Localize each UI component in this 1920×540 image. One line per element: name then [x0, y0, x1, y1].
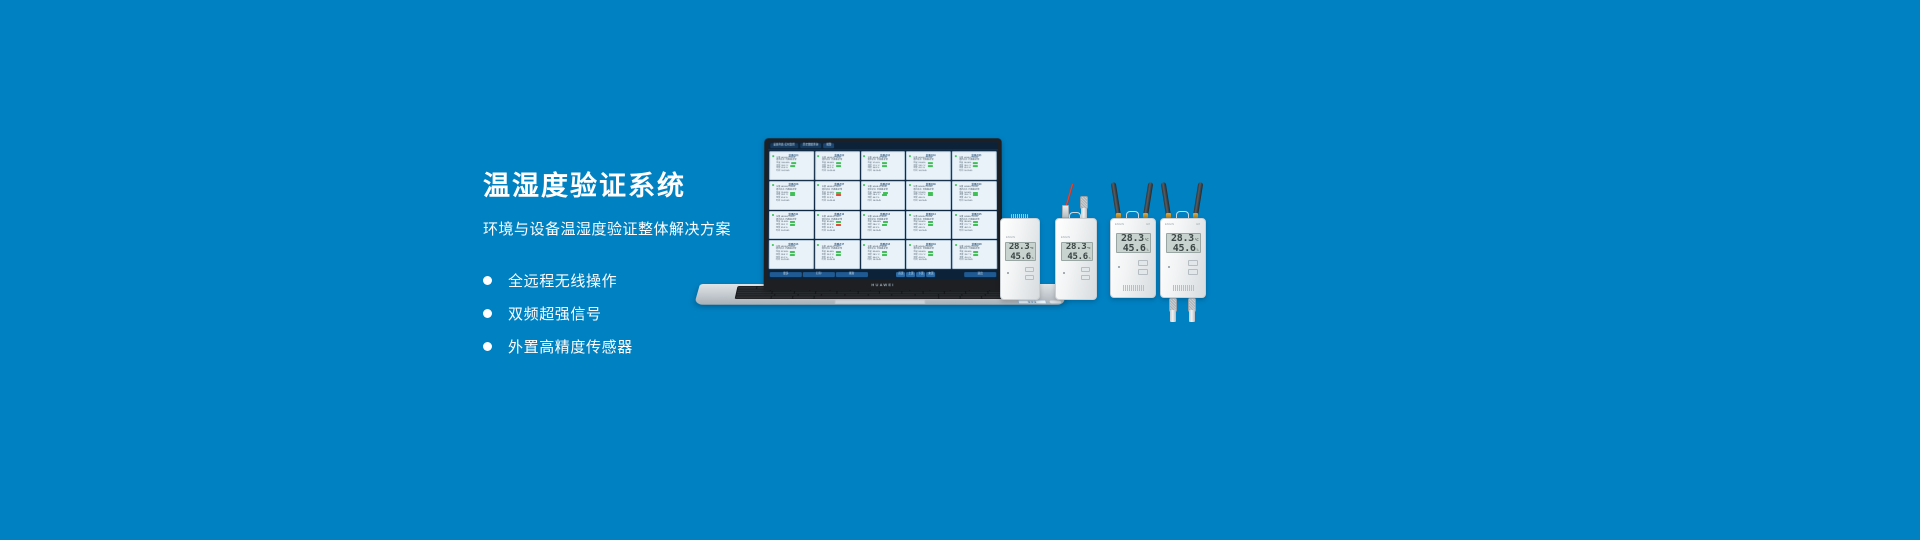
- temperature-value: 28.3: [1066, 243, 1086, 252]
- temperature-pill-icon: [882, 254, 887, 256]
- card-status-led-icon: [863, 184, 865, 186]
- card-field-value: 10:23:45: [781, 259, 789, 262]
- temperature-pill-icon: [928, 224, 933, 226]
- vent-grill-icon: [1123, 285, 1145, 291]
- card-status-led-icon: [955, 155, 957, 157]
- temperature-pill-icon: [790, 194, 795, 196]
- device-button-up[interactable]: [1025, 267, 1034, 272]
- card-status-led-icon: [955, 184, 957, 186]
- card-field-row: 时间10:23:45: [913, 170, 948, 173]
- humidity-unit: %: [1032, 257, 1034, 260]
- status-led-icon: [1168, 266, 1170, 268]
- card-field-key: 时间: [822, 170, 826, 173]
- battery-pill-icon: [790, 251, 795, 253]
- monitor-card[interactable]: 监测点14设备HD08-ZT-0114通讯状态已连接/正常电量90.00%温度2…: [906, 211, 951, 240]
- monitor-card[interactable]: 监测点02设备HD08-ZT-0102通讯状态已连接/正常电量98.00%温度2…: [815, 151, 860, 180]
- device-button-down[interactable]: [1138, 269, 1148, 275]
- card-field-key: 时间: [868, 230, 872, 233]
- card-field-key: 时间: [868, 259, 872, 262]
- card-field-row: 时间10:23:45: [776, 170, 811, 173]
- temperature-unit: ℃: [1030, 247, 1033, 250]
- bullet-dot-icon: [483, 276, 492, 285]
- battery-pill-icon: [792, 162, 797, 164]
- monitor-card[interactable]: 监测点16设备HD08-ZT-0116通讯状态已连接/正常电量87.00%温度2…: [769, 240, 814, 269]
- temperature-pill-icon: [928, 254, 933, 256]
- card-status-led-icon: [955, 214, 957, 216]
- sensor-probe-left-stem: [1170, 310, 1176, 322]
- sticker-label: 温湿度: [1027, 300, 1037, 303]
- card-field-key: 时间: [959, 200, 963, 203]
- card-field-key: 时间: [868, 170, 872, 173]
- device-button-up[interactable]: [1081, 267, 1090, 272]
- humidity-value: 45.6: [1123, 244, 1146, 253]
- card-status-led-icon: [863, 244, 865, 246]
- card-field-key: 时间: [959, 259, 963, 262]
- sensor-probe-right-stem: [1189, 310, 1195, 322]
- battery-pill-icon: [883, 221, 888, 223]
- lcd-humidity-row: 45.6 %: [1006, 253, 1035, 261]
- pager-first-button[interactable]: 首页: [896, 272, 905, 278]
- device-brand-label: ENGIN: [1115, 223, 1124, 226]
- card-field-row: 时间10:23:45: [822, 230, 857, 233]
- card-status-led-icon: [817, 244, 819, 246]
- card-field-value: 10:23:45: [919, 230, 927, 233]
- card-field-row: 时间10:23:45: [776, 200, 811, 203]
- device-button-up[interactable]: [1138, 260, 1148, 266]
- tab-realtime[interactable]: 设备列表-实时监控: [770, 143, 798, 148]
- monitor-card[interactable]: 监测点12设备HD08-ZT-0112通讯状态已连接/正常电量89.00%温度3…: [815, 211, 860, 240]
- feature-label: 双频超强信号: [508, 303, 602, 324]
- status-led-icon: [1118, 266, 1120, 268]
- bullet-dot-icon: [483, 342, 492, 351]
- card-status-led-icon: [817, 184, 819, 186]
- card-field-key: 时间: [776, 259, 780, 262]
- laptop-lid: 设备列表-实时监控 历史数据查询 报警 监测点01设备HD08-ZT-0101通…: [764, 138, 1003, 290]
- tab-history[interactable]: 历史数据查询: [800, 143, 822, 148]
- card-status-led-icon: [909, 184, 911, 186]
- feature-label: 外置高精度传感器: [508, 336, 633, 357]
- card-field-row: 时间10:23:45: [822, 170, 857, 173]
- temperature-unit: ℃: [1195, 239, 1199, 242]
- monitor-card[interactable]: 监测点06设备HD08-ZT-0106通讯状态已连接/正常电量95.00%温度2…: [769, 181, 814, 210]
- antenna-left-icon: [1161, 182, 1171, 216]
- temperature-pill-icon: [790, 254, 795, 256]
- card-field-key: 时间: [959, 170, 963, 173]
- card-status-led-icon: [817, 155, 819, 157]
- battery-pill-icon: [973, 192, 978, 194]
- feature-label: 全远程无线操作: [508, 270, 617, 291]
- card-status-led-icon: [909, 214, 911, 216]
- card-field-value: 10:23:45: [964, 230, 972, 233]
- card-field-key: 时间: [776, 170, 780, 173]
- laptop-brand-label: HUAWEI: [871, 282, 894, 287]
- battery-pill-icon: [836, 251, 841, 253]
- humidity-value: 45.6: [1067, 253, 1087, 261]
- card-field-key: 时间: [822, 230, 826, 233]
- card-field-row: 时间10:23:45: [868, 200, 903, 203]
- toolbar-exit-button[interactable]: 退出: [964, 272, 996, 278]
- probe-connector: [1062, 205, 1069, 218]
- card-field-row: 时间10:23:45: [776, 230, 811, 233]
- card-field-value: 10:23:45: [964, 170, 972, 173]
- card-status-led-icon: [772, 184, 774, 186]
- temperature-pill-icon: [790, 165, 795, 167]
- card-field-value: 10:23:45: [827, 230, 835, 233]
- monitor-card[interactable]: 监测点07设备HD08-ZT-0107通讯状态已连接/正常电量93.00%温度3…: [815, 181, 860, 210]
- monitor-card[interactable]: 监测点01设备HD08-ZT-0101通讯状态已连接/正常电量100.00%温度…: [769, 151, 814, 180]
- device-model-label: H8: [1146, 223, 1150, 226]
- monitor-card[interactable]: 监测点03设备HD08-ZT-0103通讯状态已连接/正常电量97.00%温度2…: [861, 151, 906, 180]
- probe-cable: [1065, 184, 1074, 208]
- card-field-row: 时间10:23:45: [913, 230, 948, 233]
- card-field-value: 10:23:45: [827, 170, 835, 173]
- humidity-unit: %: [1146, 249, 1148, 252]
- card-field-key: 时间: [913, 230, 917, 233]
- card-status-led-icon: [863, 214, 865, 216]
- card-field-value: 10:23:45: [781, 170, 789, 173]
- card-field-key: 时间: [776, 230, 780, 233]
- monitor-card[interactable]: 监测点11设备HD08-ZT-0111通讯状态已连接/正常电量91.00%温度2…: [769, 211, 814, 240]
- battery-pill-icon: [974, 251, 979, 253]
- device-logger-b: ENGIN 28.3 ℃ 45.6 %: [1055, 200, 1097, 300]
- card-field-key: 时间: [913, 200, 917, 203]
- card-field-value: 10:23:45: [964, 259, 972, 262]
- card-status-led-icon: [817, 214, 819, 216]
- humidity-unit: %: [1089, 257, 1091, 260]
- battery-pill-icon: [790, 221, 795, 223]
- humidity-value: 45.6: [1010, 253, 1030, 261]
- card-status-led-icon: [772, 155, 774, 157]
- battery-pill-icon: [790, 192, 795, 194]
- status-led-icon: [1007, 272, 1009, 274]
- battery-pill-icon: [836, 221, 841, 223]
- card-field-key: 时间: [822, 200, 826, 203]
- card-field-key: 时间: [913, 170, 917, 173]
- battery-pill-icon: [883, 192, 888, 194]
- card-field-key: 时间: [959, 230, 963, 233]
- card-field-row: 时间10:23:45: [913, 200, 948, 203]
- card-field-key: 时间: [868, 200, 872, 203]
- card-status-led-icon: [863, 155, 865, 157]
- card-field-row: 时间10:23:45: [822, 259, 857, 262]
- device-brand-label: ENGIN: [1006, 236, 1015, 239]
- battery-pill-icon: [882, 251, 887, 253]
- card-field-value: 10:23:45: [781, 200, 789, 203]
- device-lcd-display: 28.3 ℃ 45.6 %: [1166, 233, 1201, 253]
- card-status-led-icon: [771, 244, 773, 246]
- product-sticker: 温湿度: [1017, 300, 1047, 304]
- temperature-pill-icon: [973, 194, 978, 196]
- laptop-chin: HUAWEI: [764, 279, 1003, 290]
- device-button-down[interactable]: [1025, 275, 1034, 280]
- device-button-up[interactable]: [1188, 260, 1198, 266]
- bullet-dot-icon: [483, 309, 492, 318]
- card-field-value: 10:23:45: [964, 200, 972, 203]
- card-field-value: 10:23:45: [827, 259, 835, 262]
- lcd-humidity-row: 45.6 %: [1117, 244, 1150, 253]
- device-transmitter-c: ENGIN H8 28.3 ℃ 45.6 %: [1110, 182, 1156, 298]
- card-field-value: 10:23:45: [873, 259, 881, 262]
- monitor-card[interactable]: 监测点15设备HD08-ZT-0115通讯状态已连接/正常电量88.00%温度2…: [952, 211, 997, 240]
- lcd-humidity-row: 45.6 %: [1062, 253, 1092, 261]
- device-button-down[interactable]: [1188, 269, 1198, 275]
- device-lcd-display: 28.3 ℃ 45.6 %: [1061, 242, 1093, 261]
- temperature-pill-icon: [836, 254, 841, 256]
- device-transmitter-d: ENGIN H8 28.3 ℃ 45.6 %: [1160, 182, 1206, 322]
- device-housing: ENGIN H8 28.3 ℃ 45.6 %: [1110, 218, 1156, 298]
- battery-pill-icon: [836, 192, 841, 194]
- secondary-sticker: [1049, 300, 1061, 303]
- temperature-pill-icon: [973, 224, 978, 226]
- temperature-pill-icon: [927, 194, 932, 196]
- temperature-value: 28.3: [1009, 243, 1029, 252]
- battery-pill-icon: [973, 162, 978, 164]
- humidity-unit: %: [1196, 249, 1198, 252]
- device-housing: ENGIN 28.3 ℃ 45.6 %: [1000, 218, 1040, 300]
- temperature-unit: ℃: [1145, 239, 1149, 242]
- device-housing: ENGIN 28.3 ℃ 45.6 %: [1055, 218, 1097, 300]
- device-lcd-display: 28.3 ℃ 45.6 %: [1116, 233, 1151, 253]
- card-field-value: 10:23:45: [873, 170, 881, 173]
- device-logger-a: ENGIN 28.3 ℃ 45.6 %: [1000, 218, 1040, 300]
- card-status-led-icon: [909, 244, 911, 246]
- temperature-pill-icon: [836, 194, 841, 196]
- toolbar-more-button[interactable]: 更多: [770, 272, 802, 278]
- tab-alarm[interactable]: 报警: [823, 143, 834, 148]
- temperature-pill-icon: [882, 165, 887, 167]
- monitor-card[interactable]: 监测点17设备HD08-ZT-0117通讯状态已连接/正常电量86.00%温度2…: [815, 240, 860, 269]
- temperature-pill-icon: [836, 165, 841, 167]
- monitor-card[interactable]: 监测点18设备HD08-ZT-0118通讯状态已连接/正常电量85.00%温度2…: [861, 240, 906, 269]
- card-field-row: 时间10:23:45: [822, 200, 857, 203]
- device-brand-label: ENGIN: [1061, 236, 1070, 239]
- antenna-right-icon: [1193, 182, 1203, 216]
- pager-last-button[interactable]: 末页: [926, 272, 935, 278]
- pager-next-button[interactable]: 下页: [916, 272, 925, 278]
- monitor-card[interactable]: 监测点20设备HD08-ZT-0120通讯状态已连接/正常电量83.00%温度2…: [952, 240, 997, 269]
- card-field-row: 时间10:23:45: [868, 170, 903, 173]
- card-field-row: 时间10:23:45: [868, 230, 903, 233]
- device-lcd-display: 28.3 ℃ 45.6 %: [1005, 242, 1036, 261]
- temperature-pill-icon: [836, 224, 841, 226]
- battery-pill-icon: [928, 221, 933, 223]
- monitor-card[interactable]: 监测点04设备HD08-ZT-0104通讯状态已连接/正常电量99.00%温度2…: [906, 151, 951, 180]
- card-field-value: 10:23:45: [918, 170, 926, 173]
- monitor-card[interactable]: 监测点09设备HD08-ZT-0109通讯状态已连接/正常电量92.00%温度2…: [906, 181, 951, 210]
- device-button-down[interactable]: [1081, 275, 1090, 280]
- temperature-pill-icon: [790, 224, 795, 226]
- toolbar-print-button[interactable]: 打印: [803, 272, 835, 278]
- card-field-key: 时间: [776, 200, 780, 203]
- battery-pill-icon: [882, 162, 887, 164]
- toolbar-refresh-button[interactable]: 刷新: [836, 272, 868, 278]
- card-field-row: 时间10:23:45: [959, 170, 994, 173]
- lcd-humidity-row: 45.6 %: [1167, 244, 1200, 253]
- banner-stage: 温湿度验证系统 环境与设备温湿度验证整体解决方案 全远程无线操作 双频超强信号 …: [0, 0, 1920, 540]
- device-model-label: H8: [1196, 223, 1200, 226]
- monitor-card[interactable]: 监测点05设备HD08-ZT-0105通讯状态已连接/正常电量96.00%温度2…: [952, 151, 997, 180]
- software-screen: 设备列表-实时监控 历史数据查询 报警 监测点01设备HD08-ZT-0101通…: [768, 142, 999, 279]
- battery-pill-icon: [973, 221, 978, 223]
- card-field-row: 时间10:23:45: [959, 230, 994, 233]
- keyboard-row: [736, 297, 1024, 299]
- battery-pill-icon: [928, 192, 933, 194]
- screen-tabbar: 设备列表-实时监控 历史数据查询 报警: [768, 142, 997, 150]
- antenna-left-icon: [1111, 182, 1121, 216]
- temperature-unit: ℃: [1087, 247, 1090, 250]
- card-field-row: 时间10:23:45: [959, 200, 994, 203]
- key: [939, 297, 960, 299]
- card-field-value: 10:23:45: [873, 200, 881, 203]
- card-field-key: 时间: [913, 259, 917, 262]
- battery-pill-icon: [928, 162, 933, 164]
- temperature-pill-icon: [882, 224, 887, 226]
- card-field-value: 10:23:45: [827, 200, 835, 203]
- spacebar-key: [815, 297, 938, 299]
- card-status-led-icon: [909, 155, 911, 157]
- status-led-icon: [1063, 272, 1065, 274]
- screen-toolbar: 更多 打印 刷新 首页 上页 下页 末页 退出: [768, 270, 999, 279]
- monitor-card[interactable]: 监测点08设备HD08-ZT-0108通讯状态已连接/正常电量100.00%温度…: [861, 181, 906, 210]
- key: [772, 297, 793, 299]
- battery-pill-icon: [836, 162, 841, 164]
- humidity-value: 45.6: [1173, 244, 1196, 253]
- monitor-card-grid: 监测点01设备HD08-ZT-0101通讯状态已连接/正常电量100.00%温度…: [768, 150, 999, 270]
- device-housing: ENGIN H8 28.3 ℃ 45.6 %: [1160, 218, 1206, 298]
- monitor-card[interactable]: 监测点13设备HD08-ZT-0113通讯状态已连接/正常电量100.00%温度…: [861, 211, 906, 240]
- card-status-led-icon: [955, 244, 957, 246]
- monitor-card[interactable]: 监测点10设备HD08-ZT-0110通讯状态已连接/正常电量94.00%温度2…: [952, 181, 997, 210]
- list-item: 外置高精度传感器: [483, 331, 813, 363]
- card-field-key: 时间: [822, 259, 826, 262]
- card-field-value: 10:23:45: [919, 200, 927, 203]
- device-brand-label: ENGIN: [1165, 223, 1174, 226]
- temperature-pill-icon: [973, 254, 978, 256]
- temperature-pill-icon: [882, 194, 887, 196]
- monitor-card[interactable]: 监测点19设备HD08-ZT-0119通讯状态已连接/正常电量84.00%温度2…: [906, 240, 951, 269]
- key: [736, 297, 771, 299]
- card-field-row: 时间10:23:45: [776, 259, 811, 262]
- key: [960, 297, 981, 299]
- antenna-right-icon: [1143, 182, 1153, 216]
- temperature-pill-icon: [973, 165, 978, 167]
- vent-grill-icon: [1173, 285, 1195, 291]
- card-field-row: 时间10:23:45: [868, 259, 903, 262]
- card-field-row: 时间10:23:45: [913, 259, 948, 262]
- pager-prev-button[interactable]: 上页: [906, 272, 915, 278]
- temperature-pill-icon: [927, 165, 932, 167]
- card-field-value: 10:23:45: [873, 230, 881, 233]
- battery-pill-icon: [928, 251, 933, 253]
- key: [793, 297, 814, 299]
- card-field-value: 10:23:45: [781, 230, 789, 233]
- card-field-value: 10:23:45: [919, 259, 927, 262]
- laptop-trackpad: [835, 300, 926, 304]
- card-status-led-icon: [771, 214, 773, 216]
- card-field-row: 时间10:23:45: [959, 259, 994, 262]
